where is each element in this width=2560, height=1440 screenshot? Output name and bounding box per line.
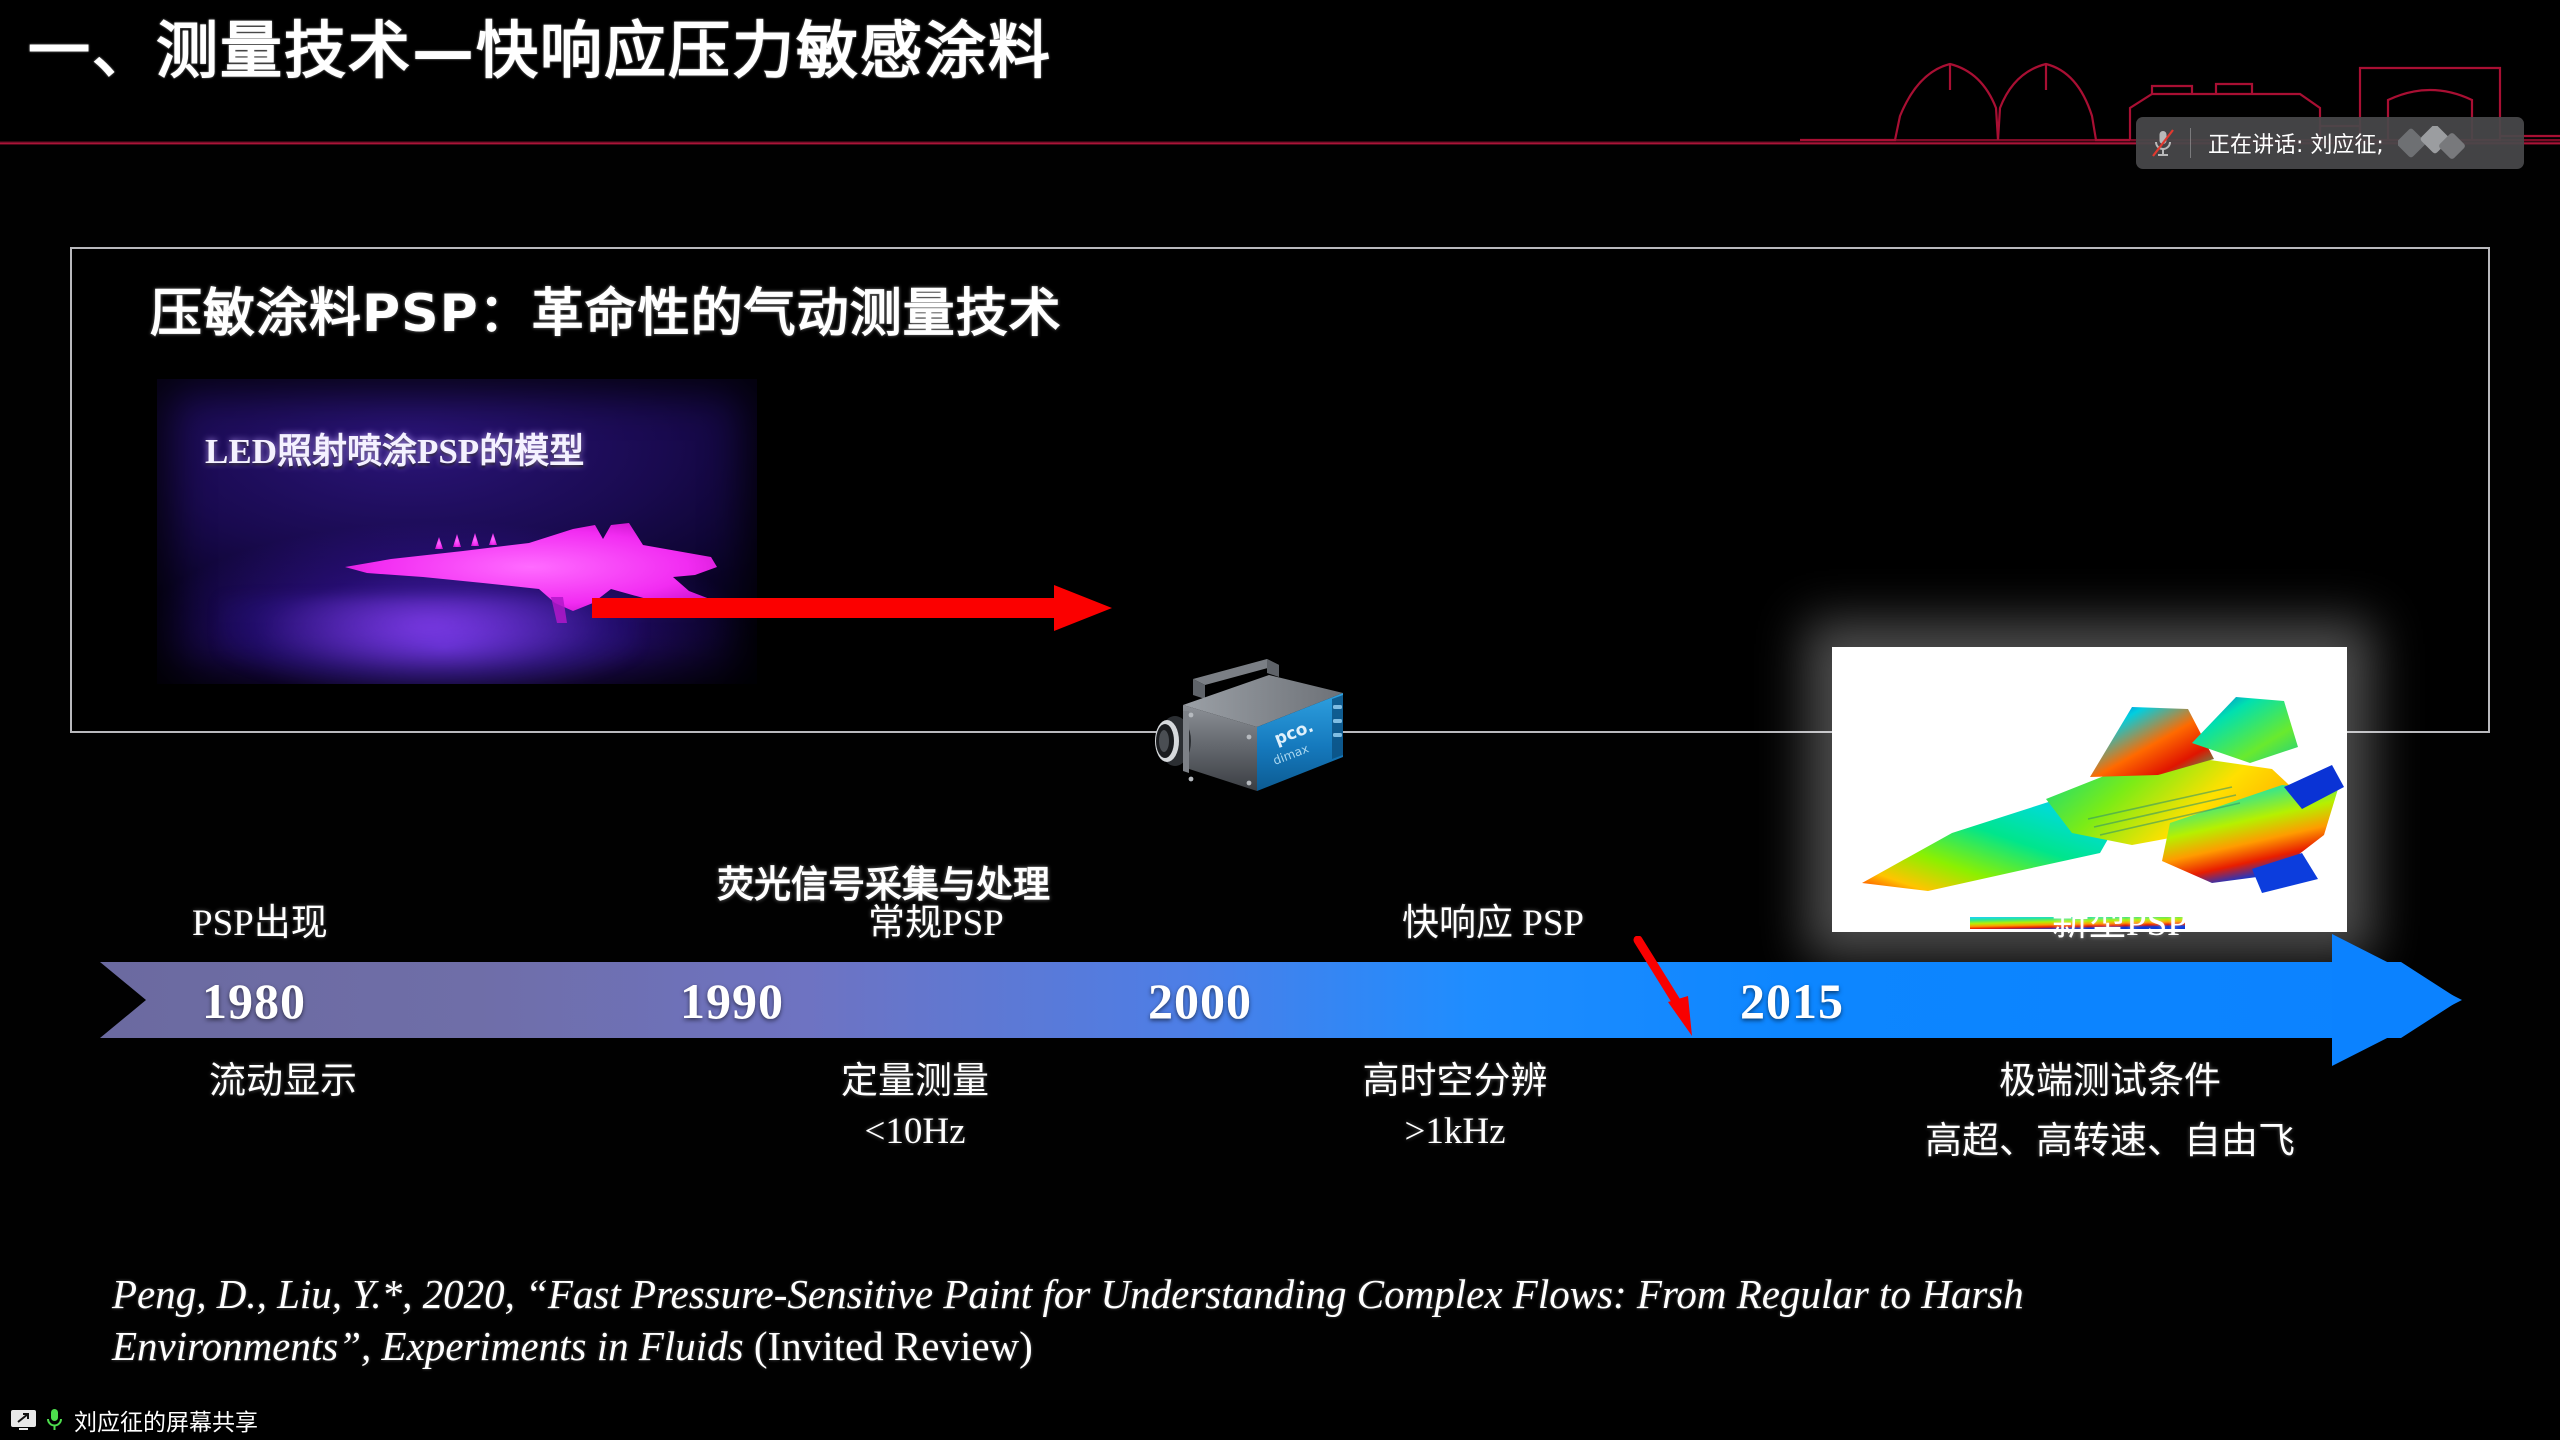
timeline-below-main-1: 定量测量 <box>841 1061 989 1102</box>
high-speed-camera-icon: pco. dimax <box>1127 649 1427 819</box>
page-title: 一、测量技术—快响应压力敏感涂料 <box>28 20 1052 82</box>
timeline-below-label-2: 高时空分辨 >1kHz <box>1330 1050 1580 1153</box>
speaker-badge-divider <box>2190 128 2191 158</box>
timeline-above-label-0: PSP出现 <box>192 892 328 946</box>
timeline-year-2: 2000 <box>1148 972 1252 1030</box>
led-photo-caption: LED照射喷涂PSP的模型 <box>205 423 584 474</box>
timeline-below-main-0: 流动显示 <box>209 1061 357 1102</box>
fast-psp-pointer-arrow-icon <box>1632 936 1706 1042</box>
microphone-active-icon <box>45 1408 64 1432</box>
citation-line-2-italic: Environments”, Experiments in Fluids <box>112 1323 754 1369</box>
screen-share-statusbar: 刘应征的屏幕共享 <box>0 1400 2560 1440</box>
process-arrow-icon <box>592 585 1112 631</box>
timeline-above-label-2: 快响应 PSP <box>1402 892 1584 946</box>
timeline-year-0: 1980 <box>202 972 306 1030</box>
screen-share-label: 刘应征的屏幕共享 <box>74 1403 258 1437</box>
timeline-below-label-3: 极端测试条件 高超、高转速、自由飞 <box>1880 1050 2340 1164</box>
timeline-below-label-0: 流动显示 <box>178 1050 388 1104</box>
psp-development-timeline: PSP出现 1980 流动显示 常规PSP 1990 定量测量 <10Hz 快响… <box>0 850 2560 1180</box>
active-speaker-badge[interactable]: 正在讲话: 刘应征; <box>2136 117 2524 169</box>
screen-share-icon <box>10 1409 37 1431</box>
timeline-below-main-3: 极端测试条件 <box>1999 1061 2221 1102</box>
timeline-year-3: 2015 <box>1740 972 1844 1030</box>
citation-line-1: Peng, D., Liu, Y.*, 2020, “Fast Pressure… <box>112 1268 2442 1320</box>
timeline-below-sub-1: <10Hz <box>790 1110 1040 1153</box>
timeline-bar <box>100 962 2460 1038</box>
citation-line-2: Environments”, Experiments in Fluids (In… <box>112 1320 2442 1372</box>
active-speaker-label: 正在讲话: 刘应征; <box>2208 127 2384 159</box>
timeline-year-1: 1990 <box>680 972 784 1030</box>
timeline-below-main-2: 高时空分辨 <box>1363 1061 1548 1102</box>
timeline-arrowhead-icon <box>2332 934 2462 1066</box>
speaker-video-thumbnail[interactable] <box>2398 126 2468 160</box>
timeline-below-label-1: 定量测量 <10Hz <box>790 1050 1040 1153</box>
timeline-above-label-1: 常规PSP <box>868 892 1004 946</box>
content-panel: 压敏涂料PSP：革命性的气动测量技术 LED照射喷涂PSP的模型 <box>70 247 2490 733</box>
citation-line-2-upright: (Invited Review) <box>754 1323 1033 1369</box>
timeline-below-sub-2: >1kHz <box>1330 1110 1580 1153</box>
panel-heading: 压敏涂料PSP：革命性的气动测量技术 <box>150 271 1062 346</box>
citation-reference: Peng, D., Liu, Y.*, 2020, “Fast Pressure… <box>112 1268 2442 1373</box>
led-psp-model-photo: LED照射喷涂PSP的模型 <box>157 379 757 684</box>
timeline-below-sub-3: 高超、高转速、自由飞 <box>1880 1110 2340 1164</box>
microphone-muted-icon <box>2136 128 2190 158</box>
timeline-above-label-3: 新型PSP <box>2052 892 2188 946</box>
